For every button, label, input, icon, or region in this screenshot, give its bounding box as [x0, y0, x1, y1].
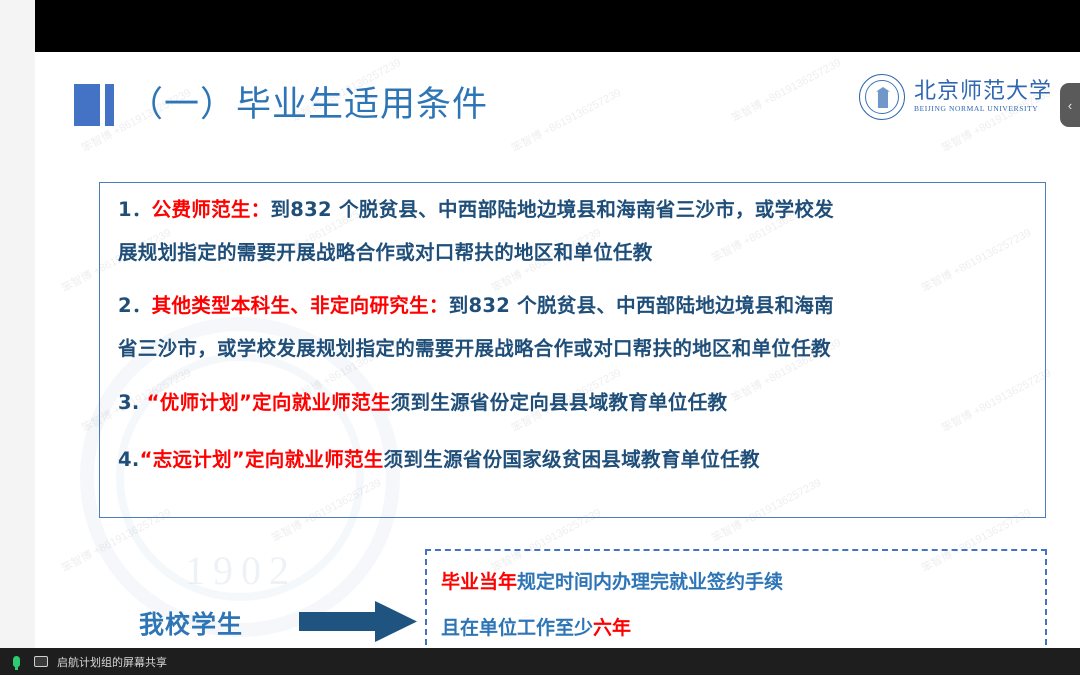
condition-text: 到832 个脱贫县、中西部陆地边境县和海南省三沙市，或学校发 [270, 198, 834, 221]
condition-line-1-cont: 展规划指定的需要开展战略合作或对口帮扶的地区和单位任教 [118, 236, 1035, 265]
arrow-shaft [299, 612, 379, 631]
requirement-highlight: 毕业当年 [441, 571, 517, 593]
screen-share-status-label: 启航计划组的屏幕共享 [57, 654, 167, 670]
collapse-panel-button[interactable]: ‹ [1060, 83, 1080, 127]
title-accent-block [74, 84, 100, 126]
condition-number: 1． [118, 198, 152, 221]
seal-year-watermark: 1902 [185, 547, 297, 594]
microphone-icon[interactable] [9, 654, 24, 669]
title-accent-bar [105, 84, 114, 126]
requirement-line-2: 且在单位工作至少六年 [441, 613, 631, 640]
conditions-box: 1．公费师范生：到832 个脱贫县、中西部陆地边境县和海南省三沙市，或学校发 展… [99, 182, 1046, 518]
condition-line-4: 4.“志远计划”定向就业师范生须到生源省份国家级贫困县域教育单位任教 [118, 443, 1035, 472]
condition-text: 须到生源省份国家级贫困县域教育单位任教 [384, 448, 760, 471]
logo-name-en: BEIJING NORMAL UNIVERSITY [914, 104, 1052, 113]
requirement-line-1: 毕业当年规定时间内办理完就业签约手续 [441, 567, 783, 594]
condition-highlight: 公费师范生： [152, 198, 271, 221]
condition-line-1: 1．公费师范生：到832 个脱贫县、中西部陆地边境县和海南省三沙市，或学校发 [118, 193, 1035, 222]
condition-line-3: 3. “优师计划”定向就业师范生须到生源省份定向县县域教育单位任教 [118, 386, 1035, 415]
logo-text-group: 北京师范大学 BEIJING NORMAL UNIVERSITY [914, 81, 1052, 113]
screen-share-icon[interactable] [33, 654, 48, 669]
condition-text: 到832 个脱贫县、中西部陆地边境县和海南 [449, 294, 834, 317]
presentation-slide: 1902 笨智博 +8619136257239 笨智博 +86191362572… [35, 52, 1080, 648]
requirement-highlight: 六年 [593, 617, 631, 639]
logo-name-cn: 北京师范大学 [914, 81, 1052, 103]
university-emblem-icon [859, 74, 905, 120]
condition-number: 3. [118, 391, 140, 414]
condition-highlight: “志远计划”定向就业师范生 [140, 448, 384, 471]
condition-text: 展规划指定的需要开展战略合作或对口帮扶的地区和单位任教 [118, 241, 653, 264]
condition-number: 4. [118, 448, 140, 471]
right-arrow-icon [299, 601, 417, 641]
university-logo: 北京师范大学 BEIJING NORMAL UNIVERSITY [859, 74, 1052, 120]
top-letterbox-bar [35, 0, 1080, 52]
arrow-head [375, 601, 417, 642]
requirement-text: 且在单位工作至少 [441, 617, 593, 639]
page-title: （一）毕业生适用条件 [128, 76, 488, 127]
left-margin-strip [0, 0, 35, 648]
screen-share-view: 1902 笨智博 +8619136257239 笨智博 +86191362572… [0, 0, 1080, 675]
taskbar: 启航计划组的屏幕共享 [0, 648, 1080, 675]
condition-highlight: “优师计划”定向就业师范生 [147, 391, 391, 414]
condition-number: 2． [118, 294, 152, 317]
our-students-label: 我校学生 [139, 605, 243, 641]
condition-highlight: 其他类型本科生、非定向研究生： [152, 294, 449, 317]
condition-text: 须到生源省份定向县县域教育单位任教 [391, 391, 728, 414]
condition-line-2: 2．其他类型本科生、非定向研究生：到832 个脱贫县、中西部陆地边境县和海南 [118, 289, 1035, 318]
requirement-callout-box: 毕业当年规定时间内办理完就业签约手续 且在单位工作至少六年 [425, 549, 1047, 648]
requirement-text: 规定时间内办理完就业签约手续 [517, 571, 783, 593]
condition-text: 省三沙市，或学校发展规划指定的需要开展战略合作或对口帮扶的地区和单位任教 [118, 337, 831, 360]
condition-line-2-cont: 省三沙市，或学校发展规划指定的需要开展战略合作或对口帮扶的地区和单位任教 [118, 332, 1035, 361]
chevron-left-icon: ‹ [1068, 98, 1072, 113]
